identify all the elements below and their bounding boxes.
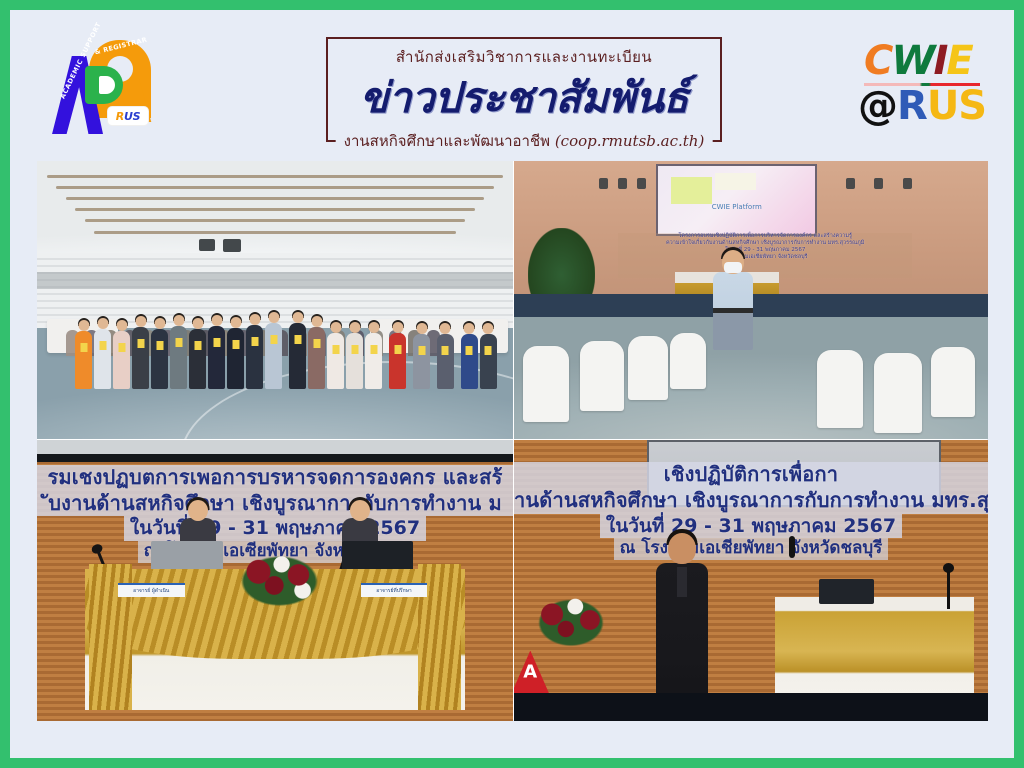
- flower-arrangement: [528, 592, 613, 648]
- cwie-letter-c: C: [864, 38, 891, 84]
- hall-attendee: [346, 333, 363, 389]
- header-subtitle-url[interactable]: (coop.rmutsb.ac.th): [555, 132, 705, 150]
- poster-header: & REGISTRAR ACADEMIC SUPPORT RUS สำนักส่…: [10, 10, 1014, 151]
- hall-attendee: [389, 333, 406, 389]
- photo-speaker-cwie-platform[interactable]: CWIE Platform โครงการอบรมเชิงปฏิบัติการเ…: [514, 161, 988, 439]
- banquet-chair: [874, 353, 922, 433]
- stage-banner-line-4: ณ โรงแรมเอเชียพัทยา จังหวัดชลบุรี: [618, 254, 912, 261]
- hall-attendee: [365, 333, 382, 389]
- cwie-logo-graphic: CWIE @RUS: [856, 38, 986, 130]
- hall-attendee: [480, 334, 497, 389]
- ceiling-strip: [37, 440, 513, 454]
- banquet-chair: [670, 333, 706, 389]
- banquet-chair: [523, 346, 569, 422]
- dark-ceiling-bar: [37, 454, 513, 462]
- cwie-letter-e: E: [946, 38, 971, 84]
- dark-foreground-floor: [514, 693, 988, 721]
- hall-wall-shadow: [37, 272, 513, 289]
- hall-attendee: [289, 323, 306, 389]
- ceiling-spotlight-icon: [846, 178, 855, 189]
- at-symbol-icon: @: [858, 83, 897, 129]
- hall-attendee: [413, 334, 430, 389]
- cwie-wordmark: CWIE: [864, 40, 972, 82]
- ceiling-spotlight-icon: [874, 178, 883, 189]
- cwie-rus-logo: CWIE @RUS: [856, 38, 986, 130]
- ceiling-spotlight-icon: [599, 178, 608, 189]
- handheld-microphone-icon: [789, 536, 795, 558]
- hall-attendee: [246, 325, 263, 389]
- photo-standing-speaker[interactable]: เชิงปฏิบัติการเพื่อกา านด้านสหกิจศึกษา เ…: [514, 440, 988, 721]
- page-title: ข่าวประชาสัมพันธ์: [328, 65, 720, 131]
- hall-attendee: [208, 326, 225, 389]
- logo-rus-badge: RUS: [107, 106, 149, 126]
- hall-attendee: [308, 327, 325, 389]
- ceiling-spotlight-icon: [903, 178, 912, 189]
- title-frame: สำนักส่งเสริมวิชาการและงานทะเบียน ข่าวปร…: [326, 37, 722, 142]
- hall-attendee: [437, 334, 454, 389]
- slide-block-left: [671, 177, 712, 204]
- banquet-chair: [817, 350, 863, 428]
- banquet-chair: [628, 336, 668, 400]
- hall-attendee: [327, 333, 344, 389]
- projection-screen: [647, 440, 941, 507]
- header-subtitle: งานสหกิจศึกษาและพัฒนาอาชีพ (coop.rmutsb.…: [336, 129, 713, 153]
- hall-speaker-box: [199, 239, 215, 251]
- rus-letter-r: R: [897, 83, 927, 129]
- banquet-chair: [931, 347, 975, 417]
- speaker-figure: [713, 272, 753, 350]
- hall-attendee: [132, 327, 149, 389]
- laptop-black: [819, 579, 875, 604]
- flower-arrangement: [227, 547, 332, 609]
- poster-root: & REGISTRAR ACADEMIC SUPPORT RUS สำนักส่…: [0, 0, 1024, 768]
- photo-collage: CWIE Platform โครงการอบรมเชิงปฏิบัติการเ…: [37, 161, 987, 720]
- face-mask-icon: [724, 262, 742, 273]
- projection-screen: CWIE Platform: [656, 164, 817, 236]
- photo-group-hall[interactable]: [37, 161, 513, 439]
- microphone-stand-icon: [947, 569, 950, 609]
- hall-attendee: [265, 323, 282, 389]
- adr-logo-graphic: & REGISTRAR ACADEMIC SUPPORT RUS: [45, 32, 157, 132]
- hall-attendee: [461, 334, 478, 389]
- slide-block-right: [715, 173, 756, 191]
- slide-title-text: CWIE Platform: [658, 203, 815, 211]
- ceiling-spotlight-icon: [637, 178, 646, 189]
- nameplate-left: อาจารย์ ผู้ดำเนิน: [118, 583, 185, 597]
- academic-support-registrar-logo: & REGISTRAR ACADEMIC SUPPORT RUS: [45, 32, 157, 132]
- cwie-letter-i: I: [933, 38, 946, 84]
- speaker-belt: [713, 308, 753, 313]
- nameplate-right: อาจารย์ที่ปรึกษา: [361, 583, 428, 597]
- hall-speaker-box: [223, 239, 241, 252]
- rus-letters-us: US: [927, 83, 986, 129]
- hall-attendee: [189, 329, 206, 389]
- hall-attendee: [94, 329, 111, 389]
- stage-banner: โครงการอบรมเชิงปฏิบัติการเพื่อการบริหารจ…: [618, 233, 912, 277]
- hall-attendee: [151, 329, 168, 389]
- hall-attendee: [227, 328, 244, 389]
- photo-head-table[interactable]: รมเชงปฏบตการเพอการบรหารจดการองคกร และสร้…: [37, 440, 513, 721]
- cwie-letter-w: W: [891, 38, 933, 84]
- hall-attendee: [113, 331, 130, 389]
- ceiling-spotlight-icon: [618, 178, 627, 189]
- header-subtitle-dept: งานสหกิจศึกษาและพัฒนาอาชีพ: [344, 132, 555, 150]
- hall-attendee: [170, 326, 187, 389]
- banquet-chair: [580, 341, 624, 411]
- rus-wordmark: @RUS: [858, 84, 986, 128]
- speaker-head: [668, 533, 696, 564]
- hall-attendee: [75, 331, 92, 389]
- speaker-shirt: [677, 567, 687, 597]
